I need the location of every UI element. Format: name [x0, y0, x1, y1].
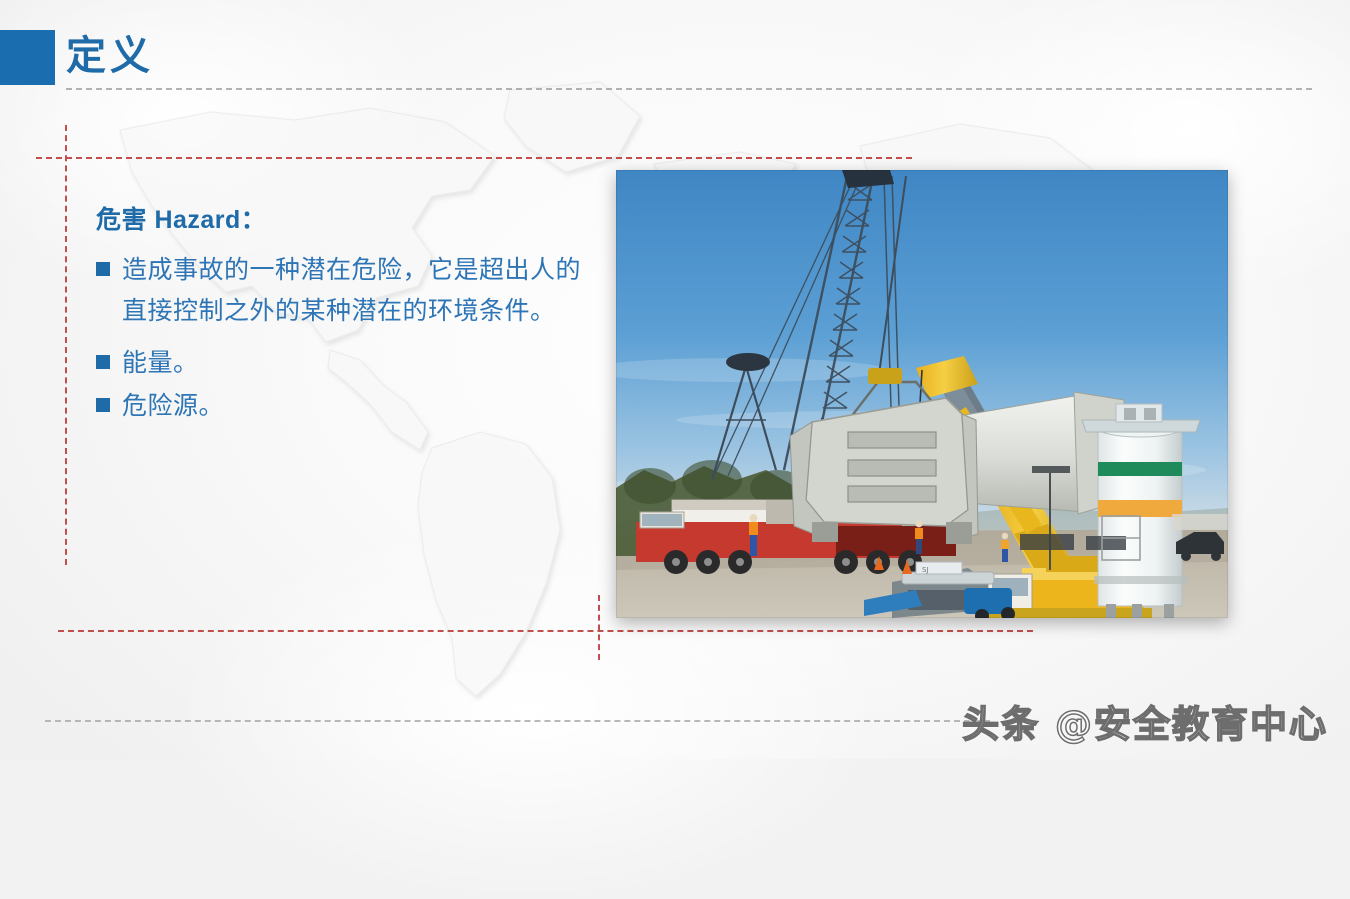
- header-divider: [66, 88, 1312, 90]
- construction-site-photo: SJ: [616, 170, 1228, 618]
- list-item: 能量。: [96, 343, 596, 384]
- definition-heading: 危害 Hazard：: [96, 200, 596, 236]
- frame-dash-top: [36, 157, 912, 159]
- footer-divider: [45, 720, 990, 722]
- svg-text:SJ: SJ: [922, 566, 929, 574]
- list-item: 造成事故的一种潜在危险，它是超出人的直接控制之外的某种潜在的环境条件。: [96, 250, 596, 331]
- page-title: 定义: [66, 27, 154, 85]
- definition-text-block: 危害 Hazard： 造成事故的一种潜在危险，它是超出人的直接控制之外的某种潜在…: [96, 200, 596, 428]
- list-item-label: 危险源。: [122, 386, 596, 427]
- title-accent-square: [0, 30, 55, 85]
- slide-canvas: 定义 危害 Hazard： 造成事故的一种潜在危险，它是超出人的直接控制之外的某…: [0, 0, 1350, 759]
- frame-dash-right: [598, 595, 600, 660]
- square-bullet-icon: [96, 262, 110, 276]
- square-bullet-icon: [96, 355, 110, 369]
- channel-watermark: 头条 @安全教育中心: [962, 694, 1328, 748]
- list-item: 危险源。: [96, 386, 596, 427]
- list-item-label: 造成事故的一种潜在危险，它是超出人的直接控制之外的某种潜在的环境条件。: [122, 250, 596, 331]
- list-item-label: 能量。: [122, 343, 596, 384]
- square-bullet-icon: [96, 398, 110, 412]
- frame-dash-bottom: [58, 630, 1033, 632]
- frame-dash-left: [65, 125, 67, 565]
